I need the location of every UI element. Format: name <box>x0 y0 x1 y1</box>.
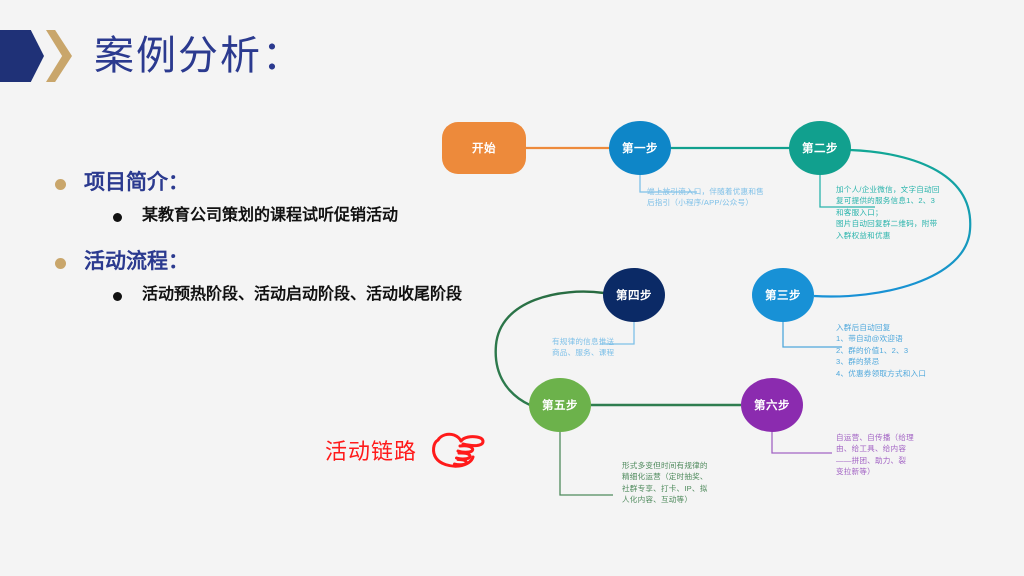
node-start[interactable] <box>442 122 526 174</box>
node-step5[interactable] <box>529 378 591 432</box>
leader-step5 <box>560 432 613 495</box>
leader-step6 <box>772 432 832 453</box>
caption-step6: 自运营、自传播（给理 由、给工具、给内容 ——拼团、助力、裂 变拉新等） <box>836 432 954 478</box>
node-step2[interactable] <box>789 121 851 175</box>
node-step6[interactable] <box>741 378 803 432</box>
flow-diagram <box>0 0 1024 576</box>
slide-canvas: 案例分析： 项目简介： 某教育公司策划的课程试听促销活动 活动流程： 活动预热阶… <box>0 0 1024 576</box>
node-step3[interactable] <box>752 268 814 322</box>
node-step1[interactable] <box>609 121 671 175</box>
caption-step5: 形式多变但时间有规律的 精细化运营（定时抽奖、 社群专享、打卡、IP、拟 人化内… <box>622 460 747 506</box>
caption-step2: 加个人/企业微信，文字自动回 复可提供的服务信息1、2、3 和客服入口； 图片自… <box>836 184 971 241</box>
node-step4[interactable] <box>603 268 665 322</box>
caption-step4: 有规律的信息推送 商品、服务、课程 <box>552 336 672 359</box>
caption-step3: 入群后自动回复 1、带自动@欢迎语 2、群的价值1、2、3 3、群的禁忌 4、优… <box>836 322 986 379</box>
caption-step1: 端上放引流入口，伴随着优惠和售 后指引（小程序/APP/公众号） <box>647 186 797 209</box>
leader-step3 <box>783 322 842 347</box>
